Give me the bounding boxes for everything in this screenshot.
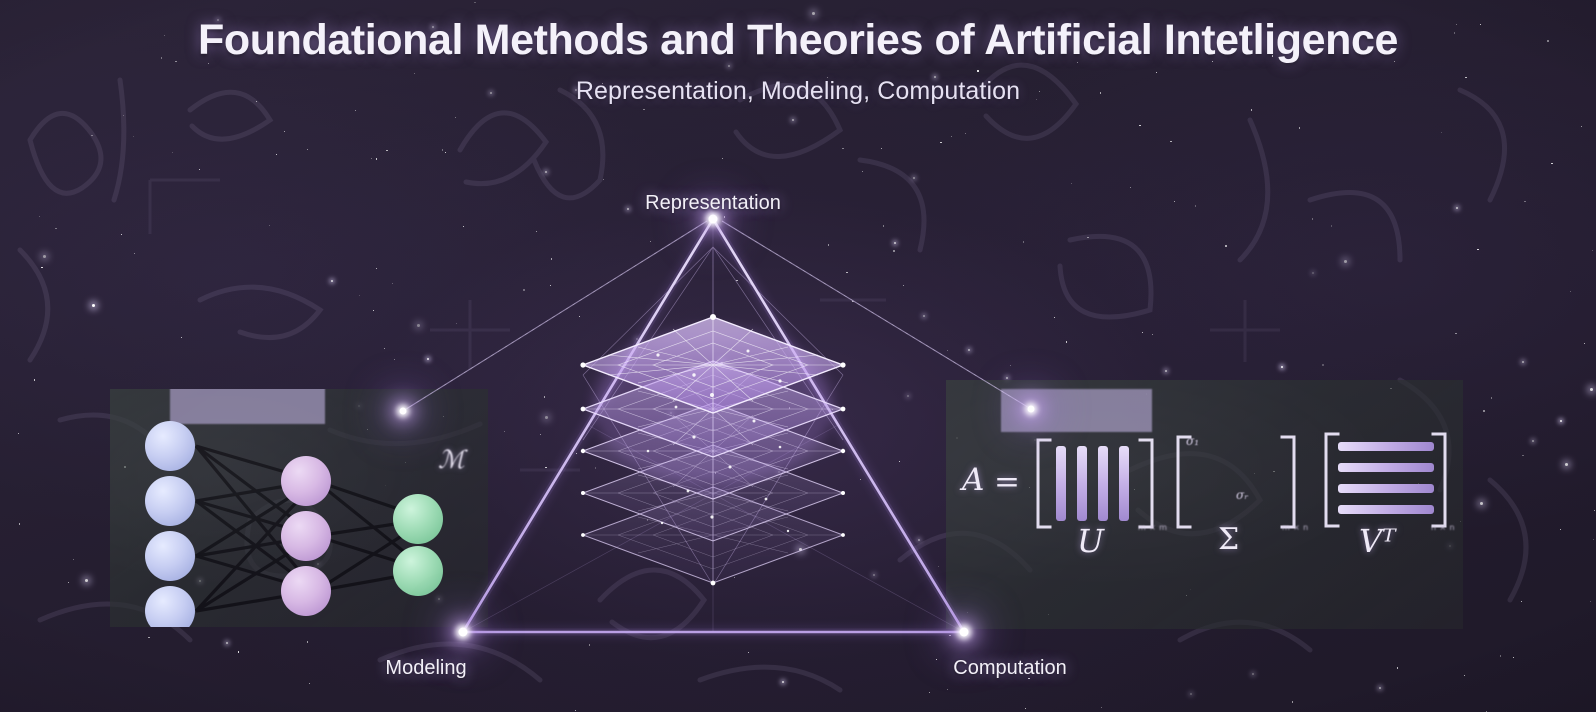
star-dot: [720, 362, 723, 365]
star-dot: [19, 523, 20, 524]
star-dot: [713, 35, 714, 36]
star-dot: [384, 348, 385, 349]
star-dot: [778, 48, 779, 49]
star-dot: [376, 268, 377, 269]
star-dot: [789, 407, 790, 408]
star-dot: [722, 158, 723, 159]
star-dot: [1560, 420, 1562, 422]
star-dot: [1028, 678, 1029, 679]
matrix-sigma-dimensions: m × n: [1282, 523, 1309, 532]
star-dot: [1513, 657, 1514, 658]
star-dot: [1344, 260, 1347, 263]
star-dot: [1594, 510, 1595, 511]
star-dot: [85, 579, 88, 582]
star-dot: [1054, 317, 1055, 318]
star-dot: [977, 70, 978, 71]
star-dot: [92, 304, 95, 307]
star-dot: [523, 289, 524, 290]
star-dot: [1071, 183, 1072, 184]
neural-network-diagram: [110, 389, 488, 627]
page-title: Foundational Methods and Theories of Art…: [0, 16, 1596, 64]
star-dot: [832, 409, 833, 410]
svd-equation: A = U Σ Vᵀ σ₁ σᵣ m × m m × n n × n: [946, 380, 1463, 629]
nn-input-layer: [145, 421, 195, 627]
script-d-symbol: ℳ: [438, 445, 465, 474]
star-dot: [1190, 693, 1192, 695]
star-dot: [208, 63, 209, 64]
star-dot: [1522, 455, 1523, 456]
star-dot: [647, 519, 648, 520]
star-dot: [576, 453, 577, 454]
star-dot: [1480, 24, 1481, 25]
star-dot: [936, 659, 937, 660]
star-dot: [34, 379, 35, 380]
star-dot: [1077, 62, 1078, 63]
star-dot: [1570, 291, 1571, 292]
star-dot: [923, 315, 925, 317]
representation-layer-stack: [498, 255, 928, 605]
star-dot: [392, 283, 393, 284]
star-dot: [734, 577, 735, 578]
star-dot: [1465, 77, 1466, 78]
star-dot: [1477, 249, 1478, 250]
star-dot: [862, 171, 863, 172]
star-dot: [1532, 440, 1534, 442]
matrix-u-dimensions: m × m: [1138, 523, 1167, 532]
star-dot: [123, 115, 124, 116]
star-dot: [852, 301, 853, 302]
star-dot: [55, 228, 56, 229]
star-dot: [799, 548, 802, 551]
star-dot: [1312, 272, 1314, 274]
star-dot: [968, 349, 970, 351]
star-dot: [41, 267, 42, 268]
star-dot: [417, 324, 420, 327]
star-dot: [736, 280, 737, 281]
star-dot: [359, 295, 360, 296]
star-dot: [575, 710, 576, 711]
star-dot: [1139, 125, 1140, 126]
star-dot: [1025, 708, 1026, 709]
star-dot: [1272, 55, 1273, 56]
star-dot: [1590, 601, 1591, 602]
presentation-slide: Foundational Methods and Theories of Art…: [0, 0, 1596, 712]
star-dot: [934, 76, 936, 78]
star-dot: [1454, 32, 1455, 33]
star-dot: [1524, 201, 1525, 202]
star-dot: [1174, 201, 1175, 202]
sigma-first-entry: σ₁: [1186, 434, 1199, 448]
star-dot: [550, 285, 551, 286]
matrix-sigma-label: Σ: [1218, 522, 1239, 557]
star-dot: [394, 359, 395, 360]
star-dot: [276, 154, 277, 155]
star-dot: [1282, 60, 1284, 62]
star-dot: [929, 692, 930, 693]
star-dot: [1456, 24, 1457, 25]
star-dot: [1010, 365, 1011, 366]
star-dot: [739, 430, 740, 431]
star-dot: [238, 651, 239, 652]
star-dot: [1547, 40, 1548, 41]
matrix-u-label: U: [1077, 522, 1104, 560]
page-subtitle: Representation, Modeling, Computation: [0, 77, 1596, 106]
star-dot: [1394, 61, 1395, 62]
star-dot: [1212, 61, 1213, 62]
star-dot: [164, 35, 165, 36]
star-dot: [463, 226, 464, 227]
vertex-label-modeling: Modeling: [385, 657, 466, 680]
star-dot: [1397, 667, 1398, 668]
star-dot: [782, 681, 784, 683]
star-dot: [1565, 463, 1568, 466]
star-dot: [602, 83, 603, 84]
star-dot: [474, 2, 475, 3]
star-dot: [1584, 343, 1585, 344]
star-dot: [715, 472, 716, 473]
star-dot: [650, 241, 651, 242]
star-dot: [1441, 132, 1442, 133]
star-dot: [579, 316, 580, 317]
star-dot: [172, 152, 173, 153]
star-dot: [355, 110, 356, 111]
star-dot: [1036, 99, 1037, 100]
star-dot: [39, 216, 40, 217]
star-dot: [1251, 109, 1252, 110]
star-dot: [1593, 539, 1594, 540]
star-dot: [1156, 72, 1157, 73]
star-dot: [134, 253, 135, 254]
star-dot: [778, 471, 780, 473]
star-dot: [1522, 361, 1524, 363]
star-dot: [442, 149, 443, 150]
star-dot: [373, 310, 374, 311]
star-dot: [73, 559, 74, 560]
star-dot: [1581, 126, 1582, 127]
star-dot: [603, 179, 604, 180]
vertex-label-representation: Representation: [645, 192, 781, 215]
star-dot: [1521, 601, 1522, 602]
star-dot: [414, 73, 415, 74]
star-dot: [181, 337, 182, 338]
star-dot: [899, 461, 900, 462]
star-dot: [490, 92, 492, 94]
star-dot: [536, 231, 537, 232]
star-dot: [445, 152, 446, 153]
star-dot: [1225, 245, 1226, 246]
slide-header: Foundational Methods and Theories of Art…: [0, 16, 1596, 106]
star-dot: [545, 467, 546, 468]
star-dot: [1551, 163, 1552, 164]
star-dot: [627, 208, 629, 210]
star-dot: [540, 434, 541, 435]
star-dot: [575, 89, 577, 91]
star-dot: [371, 158, 372, 159]
star-dot: [1464, 675, 1465, 676]
star-dot: [504, 431, 505, 432]
star-dot: [545, 416, 548, 419]
star-dot: [1039, 91, 1040, 92]
star-dot: [545, 171, 547, 173]
vertex-node-representation: [709, 215, 718, 224]
sigma-last-entry: σᵣ: [1236, 488, 1248, 502]
star-dot: [199, 169, 200, 170]
star-dot: [669, 89, 670, 90]
star-dot: [883, 225, 884, 226]
star-dot: [18, 433, 19, 434]
star-dot: [670, 412, 672, 414]
star-dot: [1281, 366, 1283, 368]
star-dot: [284, 131, 285, 132]
star-dot: [175, 61, 176, 62]
star-dot: [595, 467, 596, 468]
star-dot: [1195, 205, 1196, 206]
star-dot: [881, 148, 882, 149]
star-dot: [1023, 241, 1024, 242]
star-dot: [965, 133, 966, 134]
star-dot: [1292, 701, 1293, 702]
star-dot: [1491, 397, 1492, 398]
star-dot: [256, 101, 257, 102]
star-dot: [636, 338, 638, 340]
star-dot: [1252, 673, 1254, 675]
star-dot: [544, 396, 545, 397]
modeling-panel[interactable]: ℳ: [110, 389, 488, 627]
star-dot: [1006, 377, 1008, 379]
star-dot: [307, 149, 308, 150]
star-dot: [828, 244, 829, 245]
star-dot: [121, 234, 122, 235]
star-dot: [589, 644, 590, 645]
star-dot: [873, 574, 875, 576]
star-dot: [228, 46, 230, 48]
star-dot: [842, 148, 843, 149]
star-dot: [1100, 92, 1101, 93]
star-dot: [938, 566, 939, 567]
matrix-vt-dimensions: n × n: [1431, 523, 1455, 532]
star-dot: [217, 19, 219, 21]
star-dot: [947, 689, 948, 690]
star-dot: [1142, 332, 1143, 333]
star-dot: [903, 285, 904, 286]
star-dot: [161, 57, 162, 58]
star-dot: [1379, 687, 1381, 689]
star-dot: [1560, 529, 1561, 530]
star-dot: [432, 26, 434, 28]
equals-sign: =: [994, 464, 1020, 500]
star-dot: [269, 225, 270, 226]
computation-panel[interactable]: A = U Σ Vᵀ σ₁ σᵣ m × m m × n n × n: [946, 380, 1463, 629]
star-dot: [331, 280, 333, 282]
vertex-label-computation: Computation: [953, 657, 1066, 680]
star-dot: [748, 652, 749, 653]
star-dot: [418, 32, 419, 33]
star-dot: [1331, 225, 1332, 226]
star-dot: [386, 150, 387, 151]
star-dot: [1066, 341, 1067, 342]
star-dot: [913, 177, 915, 179]
star-dot: [551, 258, 552, 259]
star-dot: [1101, 707, 1102, 708]
star-dot: [728, 65, 730, 67]
star-dot: [456, 323, 457, 324]
star-dot: [309, 683, 310, 684]
vertex-node-modeling: [459, 628, 468, 637]
star-dot: [1130, 187, 1131, 188]
star-dot: [1170, 141, 1171, 142]
matrix-a-label: A: [962, 462, 984, 498]
star-dot: [947, 350, 948, 351]
star-dot: [455, 117, 456, 118]
star-dot: [853, 301, 854, 302]
star-dot: [1500, 655, 1501, 656]
star-dot: [1322, 364, 1323, 365]
star-dot: [1590, 388, 1593, 391]
star-dot: [148, 637, 149, 638]
star-dot: [894, 242, 896, 244]
star-dot: [918, 539, 920, 541]
star-dot: [1480, 502, 1483, 505]
star-dot: [1165, 370, 1167, 372]
star-dot: [307, 641, 308, 642]
nn-hidden-layer: [281, 456, 331, 616]
star-dot: [376, 158, 377, 159]
matrix-vt-label: Vᵀ: [1359, 522, 1396, 560]
star-dot: [1087, 237, 1088, 238]
star-dot: [915, 31, 916, 32]
star-dot: [1299, 127, 1300, 128]
star-dot: [1483, 410, 1484, 411]
star-dot: [951, 136, 952, 137]
star-dot: [226, 642, 228, 644]
nn-output-layer: [393, 494, 443, 596]
star-dot: [133, 136, 134, 137]
star-dot: [907, 395, 909, 397]
star-dot: [91, 135, 92, 136]
star-dot: [1592, 250, 1593, 251]
star-dot: [427, 358, 429, 360]
star-dot: [1025, 664, 1026, 665]
star-dot: [846, 272, 847, 273]
star-dot: [724, 216, 725, 217]
star-dot: [1312, 218, 1313, 219]
star-dot: [1152, 334, 1153, 335]
star-dot: [827, 77, 828, 78]
star-dot: [812, 12, 815, 15]
star-dot: [893, 250, 894, 251]
star-dot: [643, 109, 644, 110]
star-dot: [1041, 54, 1042, 55]
star-dot: [949, 635, 950, 636]
star-dot: [68, 582, 69, 583]
star-dot: [43, 255, 46, 258]
star-dot: [704, 47, 705, 48]
star-dot: [860, 479, 861, 480]
star-dot: [792, 119, 794, 121]
star-dot: [1456, 207, 1458, 209]
star-dot: [940, 142, 941, 143]
star-dot: [1455, 333, 1456, 334]
